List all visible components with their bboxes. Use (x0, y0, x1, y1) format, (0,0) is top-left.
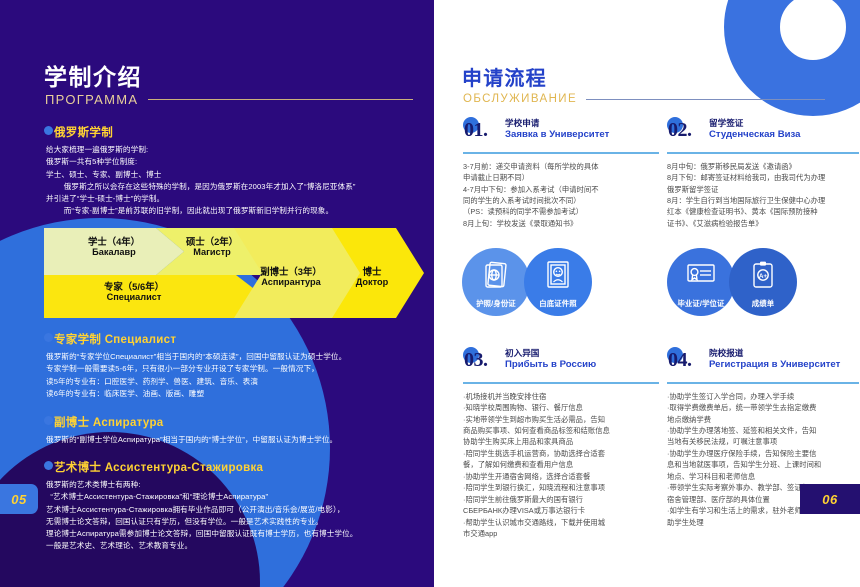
step-03-header: 03. 初入异国 Прибыть в Россию (463, 348, 659, 378)
step-03-title-cn: 初入异国 (505, 348, 596, 359)
section-title-text: 副博士 Аспиратура (54, 414, 163, 430)
chart-chevron-bachelor: 学士（4年） Бакалавр (44, 228, 184, 275)
step-02-body: 8月中旬：俄罗斯移民局发送《邀请函》 8月下旬：邮寄签证材料给我司，由我司代为办… (667, 161, 859, 230)
degree-progression-chart: 学士（4年） Бакалавр 硕士（2年） Магистр 专家（5/6年） … (44, 228, 424, 318)
section-body-text: 俄罗斯的“副博士学位Аспиратура”相当于国内的“博士学位”，中留服认证为… (46, 434, 426, 446)
chart-label-bachelor: 学士（4年） Бакалавр (44, 236, 184, 259)
section-body-text: 给大家梳理一遍俄罗斯的学制: 俄罗斯一共有5种学位制度: 学士、硕士、专家、副博… (46, 144, 422, 218)
photo-id-icon (545, 260, 571, 295)
left-title-divider (148, 99, 413, 100)
document-circle-transcript[interactable]: A+ 成绩单 (729, 248, 797, 316)
right-page-title: 申请流程 (462, 62, 547, 91)
step-01-divider (463, 152, 659, 154)
step-01-title-cn: 学校申请 (505, 118, 609, 129)
step-01-number: 01. (464, 119, 488, 142)
step-02-title-ru: Студенческая Виза (709, 129, 801, 141)
right-title-divider (586, 99, 825, 100)
document-circle-diploma[interactable]: 毕业证/学位证 (667, 248, 735, 316)
step-01-header: 01. 学校申请 Заявка в Университет (463, 118, 659, 148)
step-02-number: 02. (668, 119, 692, 142)
document-label-photo: 白底证件照 (539, 298, 576, 309)
chart-label-bachelor-ru: Бакалавр (44, 247, 184, 258)
step-02-titles: 留学签证 Студенческая Виза (709, 118, 801, 142)
section-body-russian-system: 给大家梳理一遍俄罗斯的学制: 俄罗斯一共有5种学位制度: 学士、硕士、专家、副博… (46, 144, 422, 218)
chart-label-bachelor-cn: 学士（4年） (44, 236, 184, 247)
step-04-divider (667, 382, 859, 384)
diploma-icon (685, 260, 717, 293)
step-04-titles: 院校报道 Регистрация в Университет (709, 348, 840, 372)
chart-chevron-specialist: 专家（5/6年） Специалист (44, 275, 264, 318)
chart-label-specialist-cn: 专家（5/6年） (24, 281, 244, 292)
step-02: 02. 留学签证 Студенческая Виза 8月中旬：俄罗斯移民局发送… (667, 118, 859, 229)
step-03-body: ·机场接机并当晚安排住宿 ·知晓学校周围购物、银行、餐厅信息 ·实地带领学生到超… (463, 391, 659, 540)
right-page: 申请流程 ОБСЛУЖИВАНИЕ 01. 学校申请 Заявка в Унив… (434, 0, 860, 587)
section-body-specialist: 俄罗斯的“专家学位Специалист”相当于国内的“本硕连读”，回国中留服认证… (46, 351, 426, 400)
section-title-text: 专家学制 Специалист (54, 331, 176, 347)
left-page-title: 学制介绍 (44, 58, 142, 92)
step-04-title-ru: Регистрация в Университет (709, 359, 840, 371)
section-title-text: 俄罗斯学制 (54, 124, 113, 140)
document-label-passport: 护照/身份证 (476, 298, 516, 309)
right-page-subtitle: ОБСЛУЖИВАНИЕ (463, 93, 577, 105)
step-03-number: 03. (464, 349, 488, 372)
brochure-spread: 05 学制介绍 ПРОГРАММА 俄罗斯学制 给大家梳理一遍俄罗斯的学制: 俄… (0, 0, 860, 587)
step-01-titles: 学校申请 Заявка в Университет (505, 118, 609, 142)
step-02-divider (667, 152, 859, 154)
step-03: 03. 初入异国 Прибыть в Россию ·机场接机并当晚安排住宿 ·… (463, 348, 659, 539)
bullet-dot-icon (44, 333, 53, 342)
step-04-title-cn: 院校报道 (709, 348, 840, 359)
step-01-title-ru: Заявка в Университет (505, 129, 609, 141)
page-number-left: 05 (0, 484, 38, 514)
section-heading-candidate: 副博士 Аспиратура (44, 414, 163, 430)
page-number-right: 06 (800, 484, 860, 514)
document-label-diploma: 毕业证/学位证 (677, 298, 724, 309)
passport-icon (482, 260, 510, 295)
step-04-header: 04. 院校报道 Регистрация в Университет (667, 348, 859, 378)
step-01: 01. 学校申请 Заявка в Университет 3-7月前：递交申请… (463, 118, 659, 229)
step-01-body-text: 3-7月前：递交申请资料（每所学校的具体 申请截止日期不同） 4-7月中下旬：参… (463, 161, 659, 230)
document-circle-photo[interactable]: 白底证件照 (524, 248, 592, 316)
left-page-subtitle: ПРОГРАММА (45, 92, 138, 107)
left-subtitle-row: ПРОГРАММА (45, 92, 413, 107)
document-label-transcript: 成绩单 (752, 298, 774, 309)
left-page: 05 学制介绍 ПРОГРАММА 俄罗斯学制 给大家梳理一遍俄罗斯的学制: 俄… (0, 0, 434, 587)
right-subtitle-row: ОБСЛУЖИВАНИЕ (463, 93, 825, 105)
step-03-titles: 初入异国 Прибыть в Россию (505, 348, 596, 372)
section-body-text: 俄罗斯的艺术类博士有两种: “艺术博士Ассистентура-Стажиров… (46, 479, 428, 553)
step-03-body-text: ·机场接机并当晚安排住宿 ·知晓学校周围购物、银行、餐厅信息 ·实地带领学生到超… (463, 391, 659, 540)
step-04-number: 04. (668, 349, 692, 372)
step-03-divider (463, 382, 659, 384)
chart-label-specialist-ru: Специалист (24, 292, 244, 303)
svg-text:A+: A+ (759, 273, 768, 280)
section-body-text: 俄罗斯的“专家学位Специалист”相当于国内的“本硕连读”，回国中留服认证… (46, 351, 426, 400)
section-heading-art-doctor: 艺术博士 Ассистентура-Стажировка (44, 459, 263, 475)
bullet-dot-icon (44, 461, 53, 470)
bullet-dot-icon (44, 126, 53, 135)
left-content: 学制介绍 ПРОГРАММА 俄罗斯学制 给大家梳理一遍俄罗斯的学制: 俄罗斯一… (44, 0, 434, 587)
step-01-body: 3-7月前：递交申请资料（每所学校的具体 申请截止日期不同） 4-7月中下旬：参… (463, 161, 659, 230)
section-heading-russian-system: 俄罗斯学制 (44, 124, 113, 140)
chart-label-specialist: 专家（5/6年） Специалист (24, 281, 244, 304)
step-02-title-cn: 留学签证 (709, 118, 801, 129)
step-03-title-ru: Прибыть в Россию (505, 359, 596, 371)
transcript-icon: A+ (750, 260, 776, 295)
section-body-candidate: 俄罗斯的“副博士学位Аспиратура”相当于国内的“博士学位”，中留服认证为… (46, 434, 426, 446)
step-02-body-text: 8月中旬：俄罗斯移民局发送《邀请函》 8月下旬：邮寄签证材料给我司，由我司代为办… (667, 161, 859, 230)
section-title-text: 艺术博士 Ассистентура-Стажировка (54, 459, 263, 475)
required-documents-row: 护照/身份证 白底证件照 (434, 248, 860, 344)
bullet-dot-icon (44, 416, 53, 425)
document-circle-passport[interactable]: 护照/身份证 (462, 248, 530, 316)
step-02-header: 02. 留学签证 Студенческая Виза (667, 118, 859, 148)
section-heading-specialist: 专家学制 Специалист (44, 331, 176, 347)
section-body-art-doctor: 俄罗斯的艺术类博士有两种: “艺术博士Ассистентура-Стажиров… (46, 479, 428, 553)
